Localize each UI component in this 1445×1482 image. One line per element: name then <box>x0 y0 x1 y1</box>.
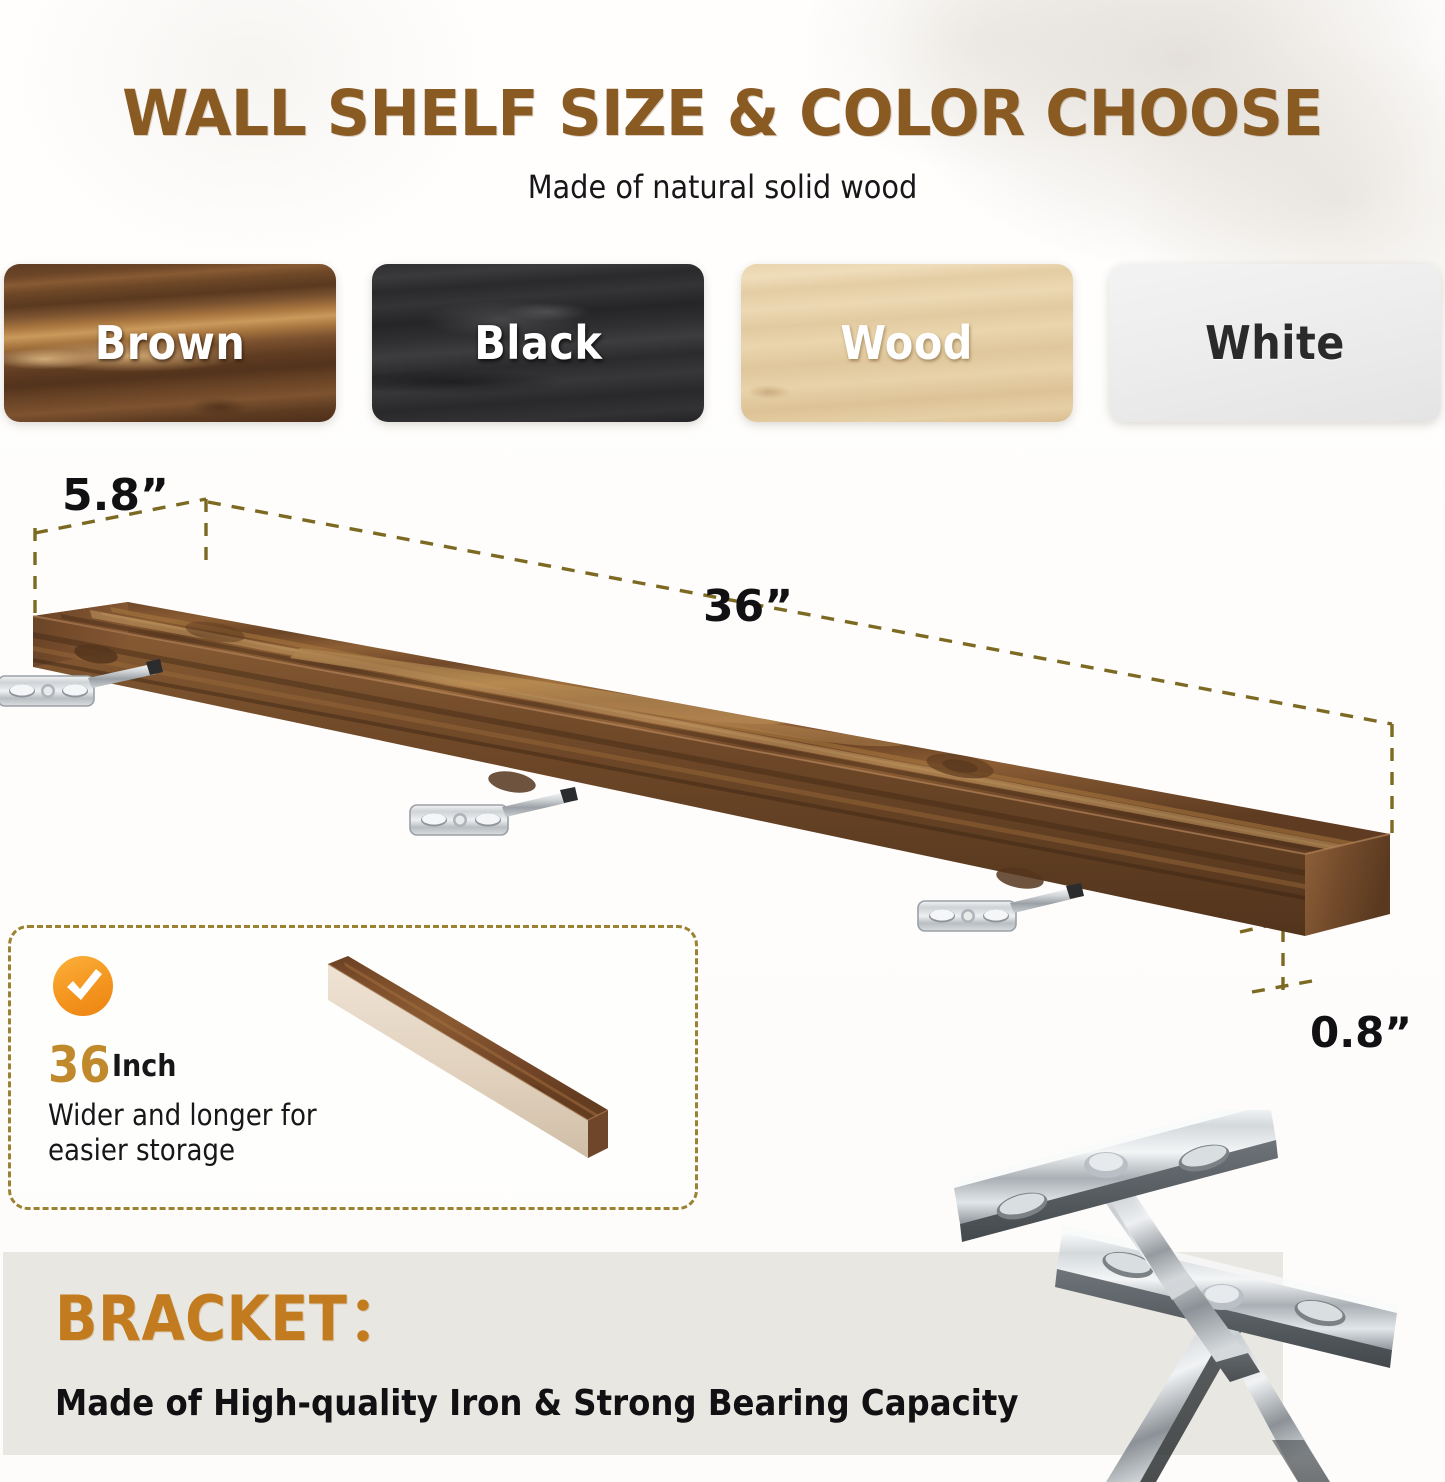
shelf-body <box>33 602 1390 936</box>
feature-number: 36 <box>48 1040 111 1090</box>
crossed-chrome-t-brackets-photo <box>900 1110 1445 1482</box>
color-swatch-wood[interactable]: Wood <box>741 264 1073 422</box>
color-swatch-row: Brown Black Wood White <box>0 264 1445 424</box>
page-title: WALL SHELF SIZE & COLOR CHOOSE <box>0 0 1445 145</box>
bracket-section-subheading: Made of High-quality Iron & Strong Beari… <box>55 1386 1018 1422</box>
dimension-label-thickness: 0.8” <box>1310 1012 1412 1054</box>
dimension-label-depth: 5.8” <box>62 474 169 518</box>
color-swatch-label: Brown <box>95 320 246 366</box>
color-swatch-label: Wood <box>840 320 973 366</box>
page-subtitle: Made of natural solid wood <box>0 145 1445 203</box>
color-swatch-label: White <box>1205 320 1345 366</box>
color-swatch-black[interactable]: Black <box>372 264 704 422</box>
shelf-bracket-middle <box>410 768 578 835</box>
infographic-root: WALL SHELF SIZE & COLOR CHOOSE Made of n… <box>0 0 1445 1482</box>
header: WALL SHELF SIZE & COLOR CHOOSE Made of n… <box>0 0 1445 203</box>
color-swatch-label: Black <box>474 320 602 366</box>
color-swatch-white[interactable]: White <box>1109 264 1441 422</box>
bracket-section-heading: BRACKET： <box>55 1288 410 1350</box>
color-swatch-brown[interactable]: Brown <box>4 264 336 422</box>
dimension-label-length: 36” <box>703 585 793 629</box>
feature-unit: Inch <box>112 1052 176 1082</box>
check-circle-icon <box>52 955 114 1017</box>
feature-description: Wider and longer for easier storage <box>48 1098 378 1169</box>
